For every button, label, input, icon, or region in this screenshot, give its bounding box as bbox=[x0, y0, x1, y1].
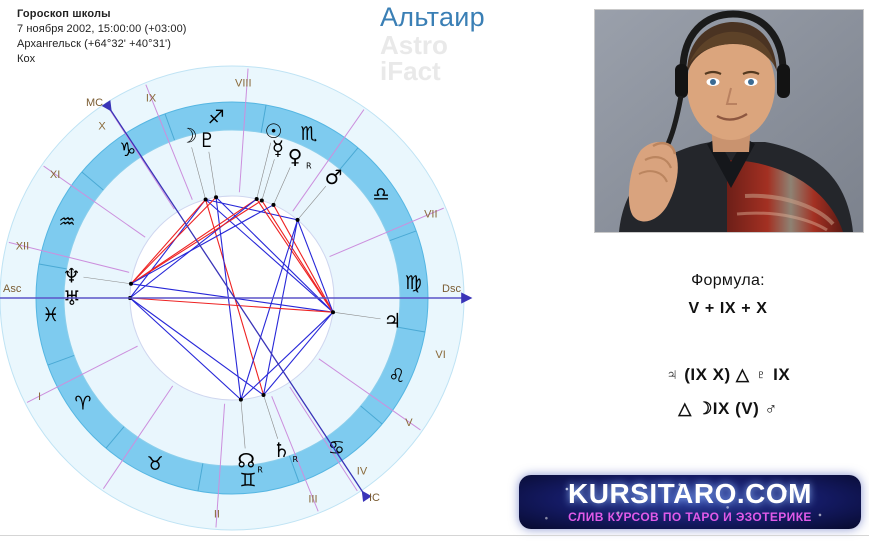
formula-label: Формула: bbox=[594, 268, 862, 294]
formula-rule-2: △ ☽IX (V) ♂ bbox=[594, 392, 862, 426]
house-number-viii: VIII bbox=[235, 77, 252, 89]
zodiac-glyph-pisces: ♓ bbox=[42, 304, 59, 326]
retrograde-marker: R bbox=[292, 455, 298, 464]
house-number-ii: II bbox=[214, 508, 220, 520]
zodiac-glyph-capricorn: ♑ bbox=[119, 139, 136, 161]
host-portrait-photo bbox=[594, 9, 864, 233]
brand-name: Альтаир bbox=[380, 2, 560, 32]
natal-chart-header: Гороскоп школы 7 ноября 2002, 15:00:00 (… bbox=[17, 7, 187, 67]
zodiac-glyph-leo: ♌ bbox=[388, 365, 405, 387]
natal-chart-wheel[interactable]: ♈♉♊♋♌♍♎♏♐♑♒♓ IIIIIIIVVVIVIIVIIIIXXXIXII … bbox=[0, 60, 554, 543]
chart-datetime: 7 ноября 2002, 15:00:00 (+03:00) bbox=[17, 22, 187, 37]
planet-glyph-mercury: ☿ bbox=[272, 136, 284, 160]
zodiac-glyph-taurus: ♉ bbox=[147, 453, 164, 475]
ic-label: IC bbox=[369, 492, 380, 504]
house-number-vi: VI bbox=[435, 349, 445, 361]
house-number-vii: VII bbox=[424, 209, 437, 221]
zodiac-glyph-gemini: ♊ bbox=[239, 469, 256, 491]
house-number-iv: IV bbox=[357, 466, 368, 478]
portrait-illustration bbox=[595, 10, 863, 232]
planet-glyph-north-node: ☊ bbox=[237, 448, 255, 472]
zodiac-glyph-virgo: ♍ bbox=[405, 272, 422, 294]
house-number-i: I bbox=[38, 391, 41, 403]
banner-site-name: KURSITARO.COM bbox=[568, 480, 812, 508]
planet-glyph-venus: ♀ bbox=[288, 144, 303, 168]
chart-title: Гороскоп школы bbox=[17, 7, 187, 22]
house-number-xi: XI bbox=[50, 169, 60, 181]
house-number-xii: XII bbox=[16, 241, 29, 253]
house-number-iii: III bbox=[308, 493, 317, 505]
zodiac-glyph-aries: ♈ bbox=[74, 392, 91, 414]
planet-glyph-neptune: ♆ bbox=[63, 263, 81, 287]
mc-label: MC bbox=[86, 97, 103, 109]
planet-glyph-pluto: ♇ bbox=[198, 128, 216, 152]
formula-block: Формула: V + IX + X ♃ (IX X) △ ♇ IX △ ☽I… bbox=[594, 268, 862, 426]
zodiac-glyph-sagittarius: ♐ bbox=[208, 107, 225, 129]
zodiac-glyph-libra: ♎ bbox=[373, 184, 390, 206]
retrograde-marker: R bbox=[306, 161, 312, 170]
planet-glyph-mars: ♂ bbox=[325, 165, 343, 189]
zodiac-glyph-cancer: ♋ bbox=[328, 437, 345, 459]
asc-label: Asc bbox=[3, 283, 22, 295]
planet-glyph-jupiter: ♃ bbox=[383, 309, 401, 333]
page-bottom-divider bbox=[0, 535, 869, 536]
brand-watermark-astro: Astro bbox=[380, 32, 560, 58]
zodiac-glyph-scorpio: ♏ bbox=[300, 123, 317, 145]
house-number-x: X bbox=[98, 120, 106, 132]
retrograde-marker: R bbox=[257, 465, 263, 474]
kursitaro-watermark-banner[interactable]: KURSITARO.COM СЛИВ КУРСОВ ПО ТАРО И ЭЗОТ… bbox=[519, 475, 861, 529]
formula-value: V + IX + X bbox=[594, 294, 862, 324]
planet-glyph-moon: ☽ bbox=[180, 124, 198, 148]
banner-tagline: СЛИВ КУРСОВ ПО ТАРО И ЭЗОТЕРИКЕ bbox=[568, 509, 812, 525]
chart-location: Архангельск (+64°32' +40°31') bbox=[17, 37, 187, 52]
zodiac-glyph-aquarius: ♒ bbox=[59, 211, 76, 233]
planet-glyph-saturn: ♄ bbox=[272, 438, 290, 462]
house-number-ix: IX bbox=[146, 93, 157, 105]
formula-rule-1: ♃ (IX X) △ ♇ IX bbox=[594, 358, 862, 392]
house-number-v: V bbox=[405, 417, 413, 429]
dsc-label: Dsc bbox=[442, 283, 461, 295]
